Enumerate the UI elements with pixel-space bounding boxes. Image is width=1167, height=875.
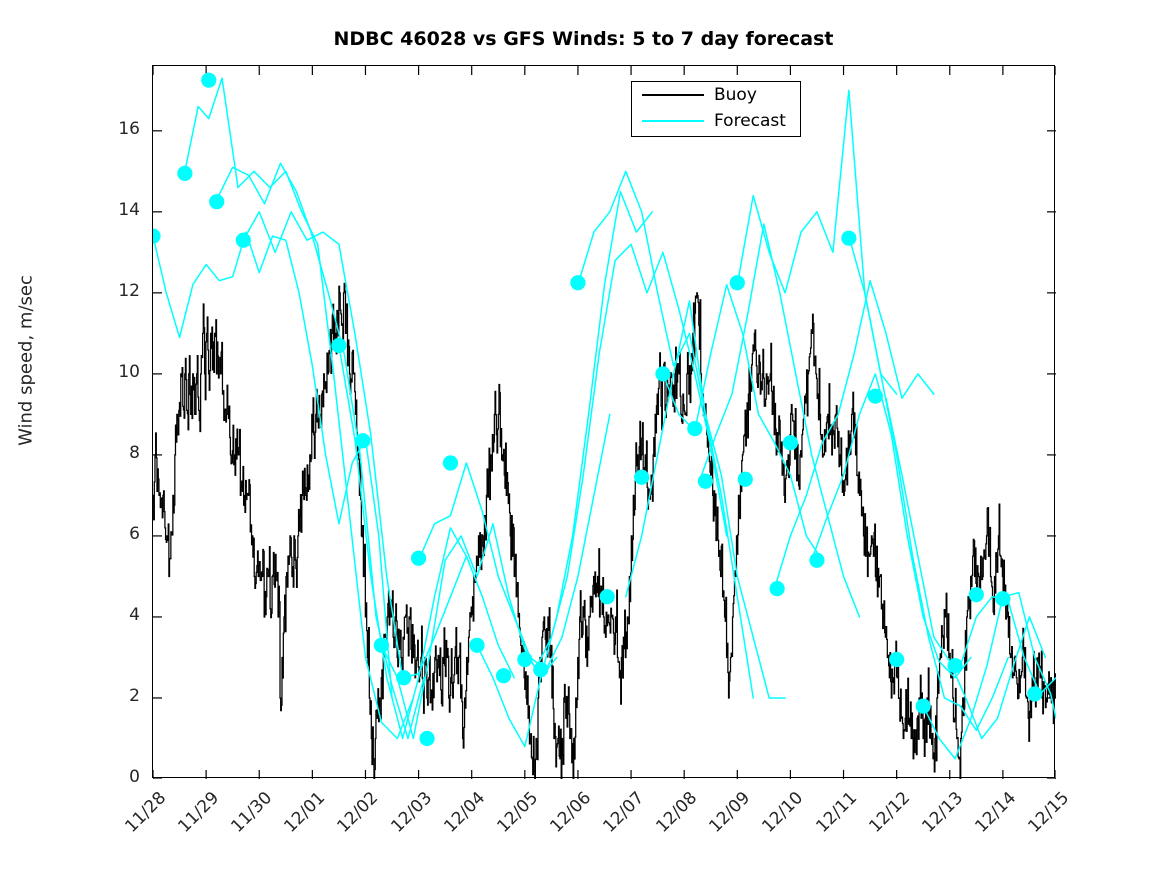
y-tick-label: 14 xyxy=(100,200,140,220)
x-tick-label: 11/28 xyxy=(116,788,170,842)
y-tick-label: 0 xyxy=(100,767,140,787)
legend-item-forecast[interactable]: Forecast xyxy=(632,108,800,134)
y-tick-label: 6 xyxy=(100,524,140,544)
x-tick-label: 12/06 xyxy=(541,788,595,842)
chart-legend[interactable]: Buoy Forecast xyxy=(631,81,801,137)
y-tick-label: 12 xyxy=(100,281,140,301)
forecast-series xyxy=(153,78,1056,759)
x-tick-label: 12/08 xyxy=(648,788,702,842)
x-tick-label: 12/04 xyxy=(435,788,489,842)
x-tick-label: 12/09 xyxy=(701,788,755,842)
y-tick-label: 8 xyxy=(100,443,140,463)
y-tick-label: 10 xyxy=(100,362,140,382)
x-tick-label: 12/01 xyxy=(276,788,330,842)
x-tick-label: 12/13 xyxy=(913,788,967,842)
x-tick-label: 12/14 xyxy=(966,788,1020,842)
y-axis-label: Wind speed, m/sec xyxy=(16,121,37,601)
page-title: NDBC 46028 vs GFS Winds: 5 to 7 day fore… xyxy=(0,28,1167,50)
figure-canvas: NDBC 46028 vs GFS Winds: 5 to 7 day fore… xyxy=(0,0,1167,875)
chart-svg xyxy=(153,66,1056,779)
legend-swatch-buoy xyxy=(642,94,704,96)
legend-swatch-forecast xyxy=(642,120,704,122)
x-tick-label: 12/10 xyxy=(754,788,808,842)
tick-marks xyxy=(153,66,1056,779)
x-tick-label: 12/03 xyxy=(382,788,436,842)
x-tick-label: 11/30 xyxy=(223,788,277,842)
y-tick-label: 4 xyxy=(100,605,140,625)
x-tick-label: 12/07 xyxy=(594,788,648,842)
x-tick-label: 12/12 xyxy=(860,788,914,842)
legend-label-buoy: Buoy xyxy=(714,85,757,105)
x-tick-label: 11/29 xyxy=(170,788,224,842)
y-tick-label: 16 xyxy=(100,119,140,139)
y-tick-label: 2 xyxy=(100,686,140,706)
legend-item-buoy[interactable]: Buoy xyxy=(632,82,800,108)
x-tick-label: 12/02 xyxy=(329,788,383,842)
plot-area: Buoy Forecast xyxy=(152,65,1055,778)
x-tick-label: 12/11 xyxy=(807,788,861,842)
x-tick-label: 12/05 xyxy=(488,788,542,842)
x-tick-label: 12/15 xyxy=(1019,788,1073,842)
legend-label-forecast: Forecast xyxy=(714,111,786,131)
